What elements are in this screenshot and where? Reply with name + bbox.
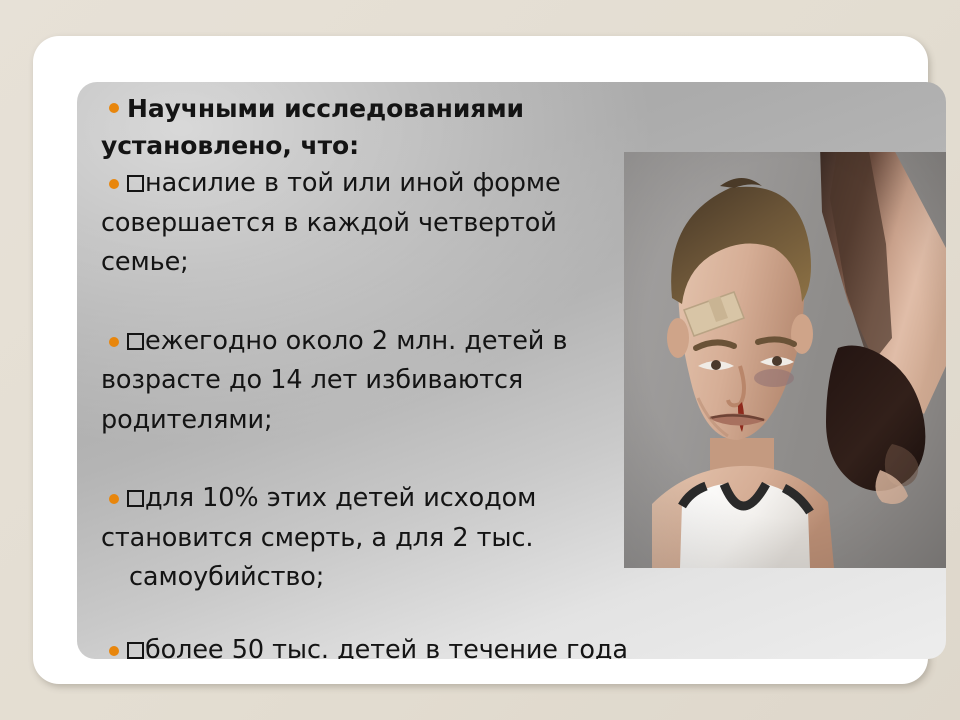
bullet-item-2: ежегодно около 2 млн. детей в возрасте д…: [101, 322, 629, 441]
bullet-item-4-text: более 50 тыс. детей в течение года уходя…: [101, 635, 628, 660]
slide-title: Научными исследованиями установлено, что…: [101, 90, 629, 164]
paragraph-spacer: [101, 598, 629, 631]
bullet-dot-icon: [109, 103, 119, 113]
photo-illustration: [624, 152, 946, 568]
bullet-dot-icon: [109, 646, 119, 656]
bullet-item-3: для 10% этих детей исходом становится см…: [101, 479, 629, 598]
box-glyph-icon: [127, 490, 144, 507]
bullet-item-3-tail: самоубийство;: [101, 558, 629, 598]
bullet-item-3-text: для 10% этих детей исходом становится см…: [101, 483, 536, 553]
box-glyph-icon: [127, 175, 144, 192]
slide-stage: Научными исследованиями установлено, что…: [0, 0, 960, 720]
bullet-dot-icon: [109, 494, 119, 504]
box-glyph-icon: [127, 642, 144, 659]
paragraph-spacer: [101, 283, 629, 322]
box-glyph-icon: [127, 333, 144, 350]
bullet-item-4: более 50 тыс. детей в течение года уходя…: [101, 631, 629, 660]
slide-content-panel: Научными исследованиями установлено, что…: [77, 82, 946, 659]
slide-card: Научными исследованиями установлено, что…: [33, 36, 928, 684]
bullet-item-1: насилие в той или иной форме совершается…: [101, 164, 629, 283]
paragraph-spacer: [101, 440, 629, 479]
bullet-text-column: Научными исследованиями установлено, что…: [101, 90, 629, 659]
photo-vignette: [624, 152, 946, 568]
bullet-item-2-text: ежегодно около 2 млн. детей в возрасте д…: [101, 326, 567, 435]
bullet-dot-icon: [109, 179, 119, 189]
bullet-item-1-text: насилие в той или иной форме совершается…: [101, 168, 561, 277]
slide-title-text: Научными исследованиями установлено, что…: [101, 94, 524, 160]
photo-boy-and-fist: [624, 152, 946, 568]
bullet-dot-icon: [109, 337, 119, 347]
